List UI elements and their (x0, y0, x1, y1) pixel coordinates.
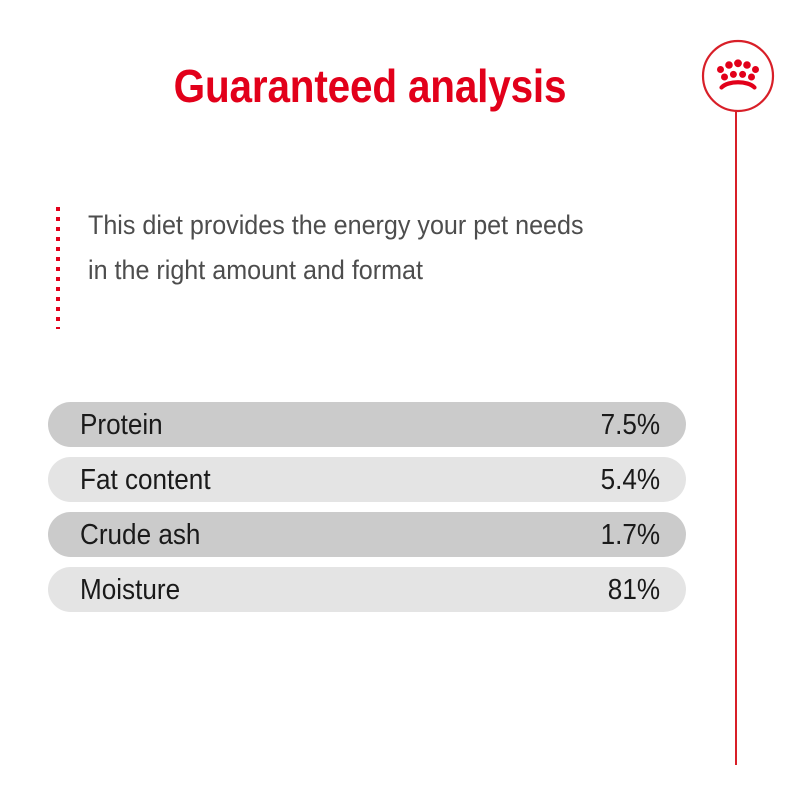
row-label: Moisture (80, 574, 180, 606)
analysis-table: Protein 7.5% Fat content 5.4% Crude ash … (48, 402, 686, 622)
row-value: 5.4% (601, 464, 660, 496)
brand-vertical-line (735, 110, 737, 765)
row-label: Protein (80, 409, 163, 441)
table-row: Fat content 5.4% (48, 457, 686, 502)
row-label: Crude ash (80, 519, 200, 551)
table-row: Crude ash 1.7% (48, 512, 686, 557)
brand-mark (700, 38, 776, 778)
table-row: Protein 7.5% (48, 402, 686, 447)
row-value: 81% (608, 574, 660, 606)
dotted-rule-icon (56, 207, 60, 329)
crown-logo-icon (700, 38, 776, 114)
page-title: Guaranteed analysis (97, 58, 643, 114)
table-row: Moisture 81% (48, 567, 686, 612)
intro-block: This diet provides the energy your pet n… (56, 203, 656, 329)
guaranteed-analysis-panel: Guaranteed analysis This diet provides t… (0, 0, 800, 800)
row-label: Fat content (80, 464, 211, 496)
row-value: 1.7% (601, 519, 660, 551)
row-value: 7.5% (601, 409, 660, 441)
intro-text: This diet provides the energy your pet n… (88, 203, 584, 293)
